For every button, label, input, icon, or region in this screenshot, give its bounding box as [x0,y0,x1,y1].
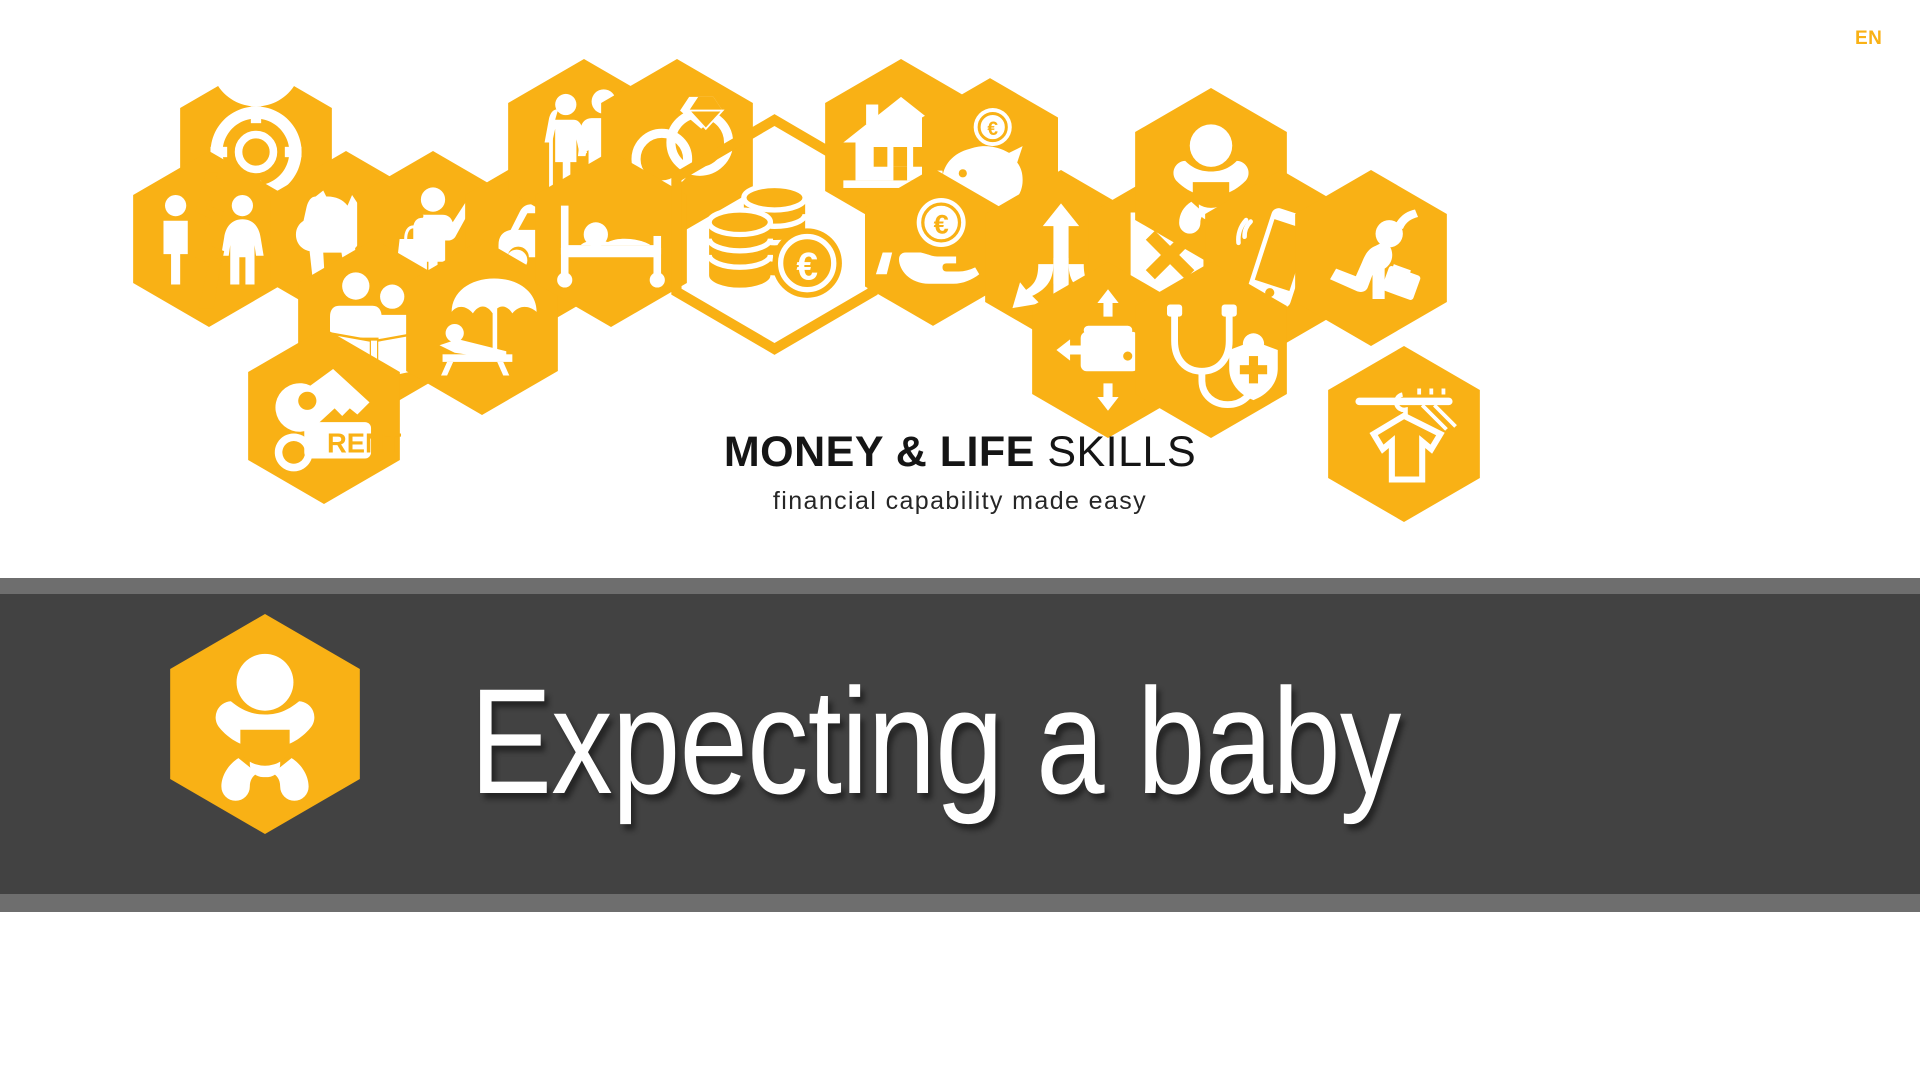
hex-divorce [133,151,285,327]
svg-text:€: € [934,208,949,239]
title-band-baby-icon [170,614,360,839]
band-top-edge [0,578,1920,594]
svg-text:€: € [987,119,998,140]
band-bottom-edge [0,894,1920,912]
brand-lockup: MONEY & LIFE SKILLS financial capability… [0,430,1920,516]
page-title: Expecting a baby [470,655,1401,828]
brand-tagline: financial capability made easy [0,487,1920,516]
svg-text:€: € [796,245,818,288]
hex-health-insurance [1135,262,1287,438]
brand-title-bold: MONEY & LIFE [724,428,1035,476]
brand-title: MONEY & LIFE SKILLS [0,430,1920,475]
hex-income: € [865,168,1001,326]
footer: ★ ★ ★ ★ ★ ★ ★ ★ ★ ★ ★ ★ Erasmus+ The Eur… [0,912,1920,1080]
brand-title-light: SKILLS [1047,428,1196,476]
slide-root: EN [0,0,1920,1080]
hex-hospital [535,151,687,327]
hex-job-loss [1295,170,1447,346]
